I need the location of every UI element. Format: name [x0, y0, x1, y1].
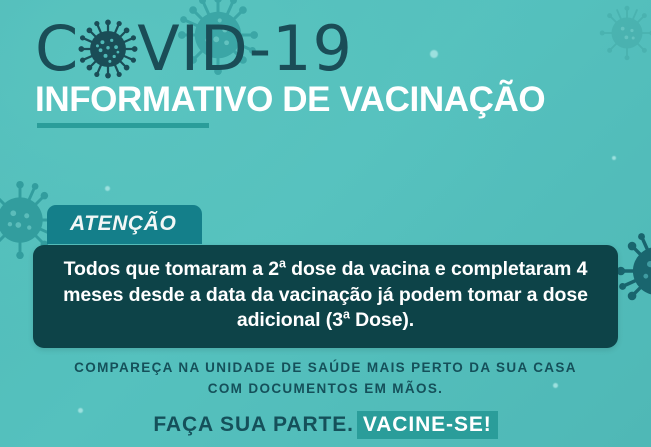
cta-highlight: VACINE-SE!	[357, 411, 498, 439]
footer-line-2: COM DOCUMENTOS EM MÃOS.	[0, 379, 651, 400]
virus-top-right-icon	[596, 2, 651, 64]
dot-upper-right	[612, 156, 616, 160]
message-line1-a: Todos que tomaram a 2	[64, 258, 279, 280]
attention-message-text: Todos que tomaram a 2a dose da vacina e …	[51, 257, 600, 334]
attention-message-box: Todos que tomaram a 2a dose da vacina e …	[33, 245, 618, 348]
call-to-action: FAÇA SUA PARTE.VACINE-SE!	[0, 413, 651, 437]
message-line1-b: dose da vacina e	[286, 258, 446, 280]
attention-tab-label: ATENÇÃO	[70, 212, 176, 236]
covid-title-suffix: VID-19	[137, 20, 353, 79]
message-line3-ordinal: a	[343, 308, 350, 322]
message-line3-b: Dose).	[350, 309, 414, 331]
poster-footer: COMPAREÇA NA UNIDADE DE SAÚDE MAIS PERTO…	[0, 358, 651, 437]
virus-o-icon	[77, 18, 139, 80]
poster-header: C	[35, 18, 545, 119]
dot-mid-left	[105, 186, 110, 191]
covid-title: C	[35, 18, 545, 80]
subtitle-wrap: INFORMATIVO DE VACINAÇÃO	[35, 82, 545, 119]
poster-subtitle: INFORMATIVO DE VACINAÇÃO	[35, 82, 545, 119]
footer-line-1: COMPAREÇA NA UNIDADE DE SAÚDE MAIS PERTO…	[0, 358, 651, 379]
message-line1-ordinal: a	[279, 257, 286, 271]
covid-title-prefix: C	[35, 20, 79, 79]
attention-tab: ATENÇÃO	[47, 205, 202, 244]
subtitle-underline	[37, 123, 209, 128]
cta-text: FAÇA SUA PARTE.	[153, 413, 354, 436]
virus-right-edge-icon	[614, 228, 651, 314]
poster-canvas: C	[0, 0, 651, 447]
